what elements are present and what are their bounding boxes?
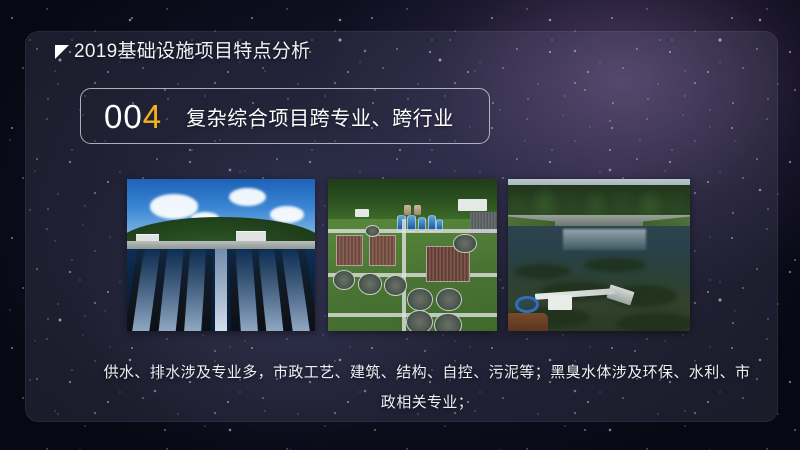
section-number-prefix: 00 xyxy=(104,98,143,135)
water-treatment-basins-photo xyxy=(127,179,315,331)
slide-header: 2019基础设施项目特点分析 xyxy=(52,41,310,63)
section-number-accent: 4 xyxy=(143,98,162,135)
black-odorous-water-photo xyxy=(508,179,690,331)
flag-triangle-icon xyxy=(52,42,72,62)
photo-gallery xyxy=(127,179,690,331)
content-panel: 2019基础设施项目特点分析 004 复杂综合项目跨专业、跨行业 xyxy=(25,31,778,422)
wastewater-plant-aerial-photo xyxy=(328,179,497,331)
section-number: 004 xyxy=(104,100,162,133)
presentation-slide: 2019基础设施项目特点分析 004 复杂综合项目跨专业、跨行业 xyxy=(0,0,800,450)
slide-caption: 供水、排水涉及专业多，市政工艺、建筑、结构、自控、污泥等；黑臭水体涉及环保、水利… xyxy=(103,358,751,418)
page-title: 2019基础设施项目特点分析 xyxy=(74,41,310,63)
section-title-box: 004 复杂综合项目跨专业、跨行业 xyxy=(80,88,490,144)
section-heading: 复杂综合项目跨专业、跨行业 xyxy=(186,102,454,131)
